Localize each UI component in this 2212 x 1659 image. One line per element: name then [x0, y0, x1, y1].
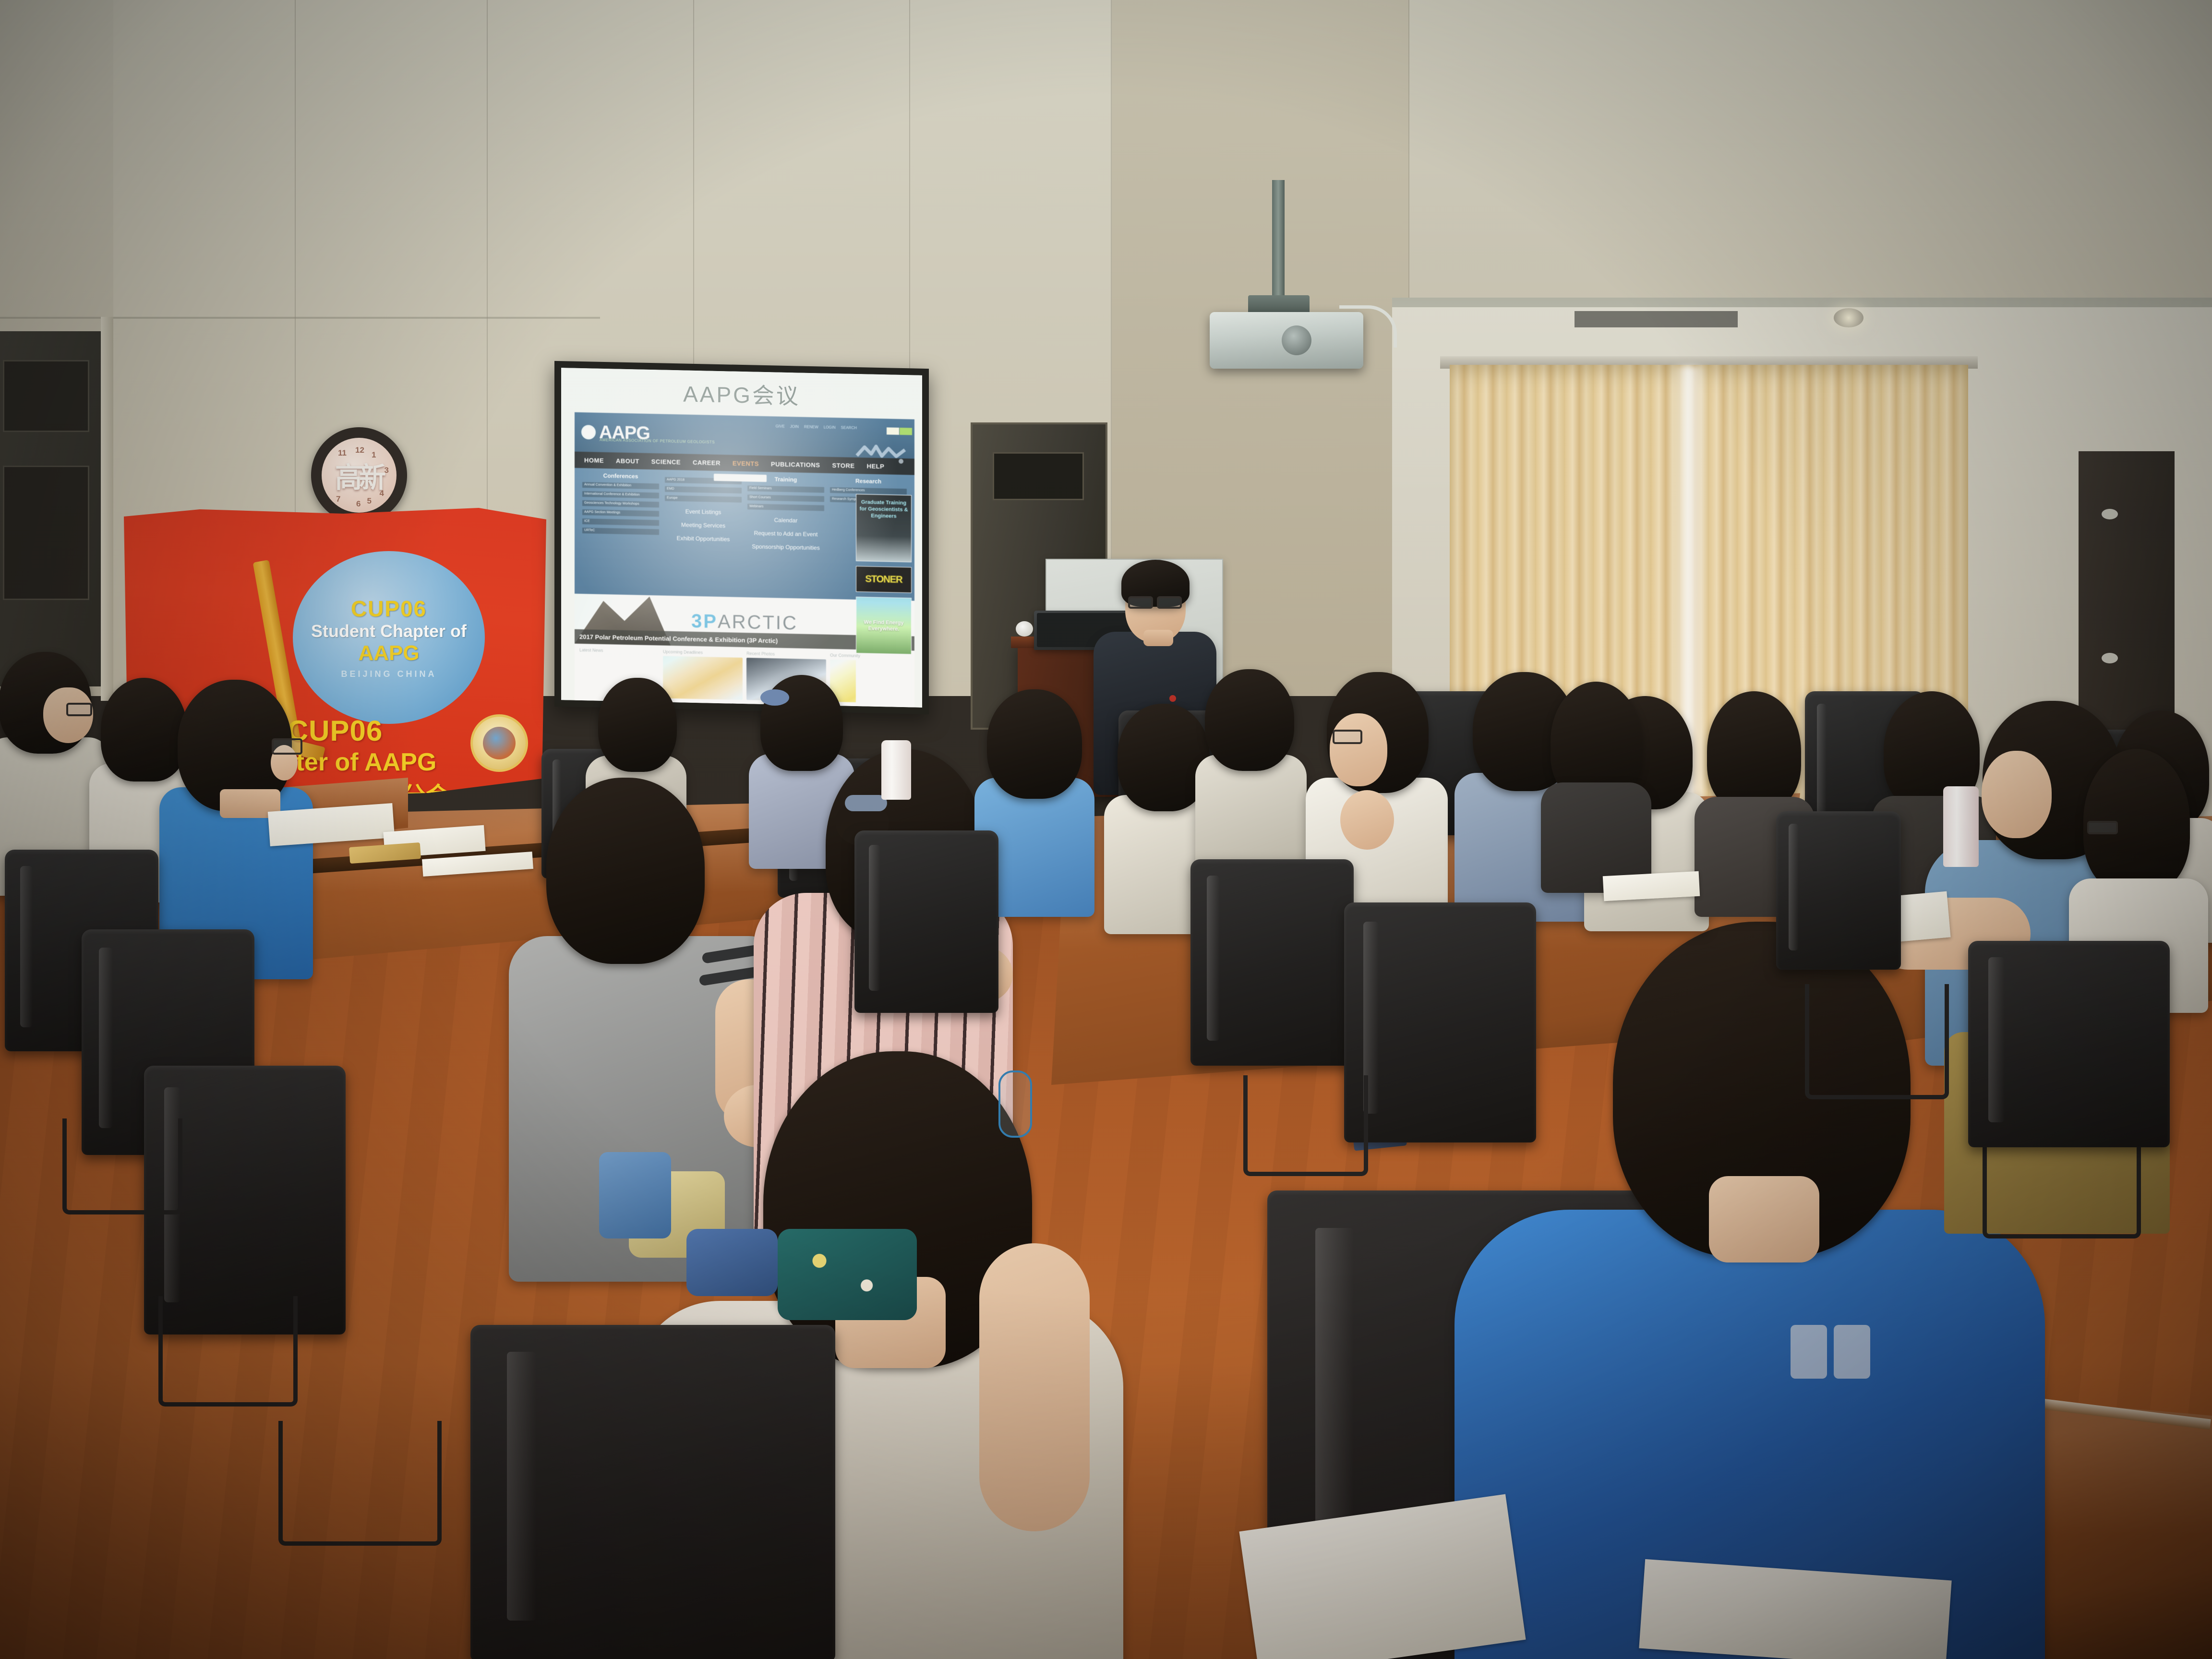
chair-leg [158, 1296, 298, 1407]
nav-events[interactable]: EVENTS [727, 459, 765, 468]
person-glasses [1333, 730, 1362, 744]
right-link-request-add-event[interactable]: Request to Add an Event [747, 529, 824, 538]
water-bottle[interactable] [881, 740, 911, 800]
audience-person [1541, 682, 1656, 874]
site-top-links[interactable]: GIVE JOIN RENEW LOGIN SEARCH [776, 424, 857, 430]
door-glass-pane [993, 452, 1084, 500]
bottom-cell-heading: Upcoming Deadlines [663, 649, 743, 656]
chair[interactable] [1190, 859, 1354, 1066]
person-face [1330, 713, 1387, 786]
chair[interactable] [1968, 941, 2170, 1147]
hero-logo-prefix: 3P [691, 610, 718, 632]
mega-col-regions: AAPG 2018 EMD Europe Event Listings Meet… [662, 474, 745, 594]
person-head [987, 689, 1082, 799]
hero-logo-suffix: ARCTIC [718, 611, 798, 633]
audience-person [1195, 667, 1310, 874]
person-head [1707, 691, 1801, 811]
person-hand [1340, 790, 1394, 850]
person-face [1982, 751, 2052, 838]
presenter-neck [1143, 630, 1173, 646]
clock-face-text: 高新 [335, 455, 383, 495]
site-flag-badge [887, 427, 899, 435]
hair-tie [760, 689, 789, 706]
mega-item[interactable]: URTeC [582, 528, 659, 535]
presenter-glasses [1128, 596, 1153, 609]
shirt-print [1834, 1325, 1870, 1379]
site-ad-rail: Graduate Training for Geoscientists & En… [853, 491, 914, 708]
shirt-print [1791, 1325, 1827, 1379]
slide-title: AAPG会议 [561, 368, 922, 420]
microphone [1016, 621, 1033, 637]
person-glasses [272, 738, 302, 755]
center-link-event-listings[interactable]: Event Listings [665, 508, 742, 516]
top-link[interactable]: JOIN [790, 424, 799, 429]
person-glasses [998, 1070, 1032, 1138]
aapg-website-screenshot: AAPG AMERICAN ASSOCIATION OF PETROLEUM G… [575, 412, 914, 708]
stoner-ad[interactable]: STONER [856, 566, 912, 593]
person-head [546, 778, 705, 964]
thermos-bottle[interactable] [1943, 786, 1979, 867]
top-link[interactable]: GIVE [776, 424, 785, 428]
bottom-cell-heading: Recent Photos [746, 651, 826, 657]
mega-col-training: Training Field Seminars Short Courses We… [745, 475, 827, 595]
site-search-input[interactable] [714, 474, 767, 482]
presenter-glasses [1157, 596, 1182, 609]
mega-item[interactable]: Webinars [747, 504, 824, 511]
site-green-badge [900, 428, 912, 435]
soffit-vent [1575, 311, 1738, 327]
document-on-table[interactable] [1603, 871, 1700, 901]
banner-logo-oval: CUP06 Student Chapter of AAPG BEIJING CH… [293, 551, 485, 724]
chair-leg [1243, 1075, 1368, 1176]
projected-slide: AAPG会议 AAPG AMERICAN ASSOCIATION OF PETR… [561, 368, 922, 708]
hero-logo: 3PARCTIC [691, 610, 798, 634]
person-glasses [66, 703, 92, 716]
site-tagline: AMERICAN ASSOCIATION OF PETROLEUM GEOLOG… [600, 438, 715, 445]
globe-icon [855, 441, 908, 467]
stoner-ad-text: STONER [866, 574, 902, 586]
nav-about[interactable]: ABOUT [610, 457, 645, 465]
center-link-meeting-services[interactable]: Meeting Services [665, 521, 742, 529]
center-link-exhibit-opportunities[interactable]: Exhibit Opportunities [665, 535, 742, 543]
hair-tie [845, 795, 887, 811]
chair-leg [62, 1118, 182, 1214]
energy-everywhere-ad[interactable]: We Find Energy Everywhere. [856, 597, 912, 654]
mega-heading-conferences: Conferences [582, 472, 659, 480]
banner-oval-line4: BEIJING CHINA [341, 669, 436, 679]
aapg-logo-mark [581, 425, 596, 440]
chair-leg [278, 1421, 442, 1546]
wall-clock: 高新 12 1 3 4 5 6 7 11 [311, 427, 407, 523]
chair[interactable] [1344, 902, 1536, 1142]
mega-item[interactable]: AAPG Section Meetings [582, 509, 659, 517]
right-link-calendar[interactable]: Calendar [747, 516, 824, 524]
nav-science[interactable]: SCIENCE [646, 457, 686, 466]
top-link[interactable]: SEARCH [841, 425, 857, 430]
university-seal [470, 714, 528, 772]
chair[interactable] [470, 1325, 835, 1659]
wall-seam [0, 317, 600, 319]
bag-on-floor[interactable] [686, 1229, 778, 1296]
graduate-training-ad[interactable]: Graduate Training for Geoscientists & En… [856, 494, 912, 562]
mega-item[interactable]: Europe [665, 495, 742, 503]
person-head [1205, 669, 1294, 771]
bottom-cell-heading: Latest News [579, 648, 659, 654]
projector-lens [1282, 325, 1311, 355]
mega-item[interactable]: Geosciences Technology Workshops [582, 500, 659, 507]
top-link[interactable]: LOGIN [824, 425, 836, 430]
mega-heading-research: Research [830, 477, 907, 485]
rail-spacer-ad [856, 658, 912, 704]
chair[interactable] [854, 830, 998, 1013]
nav-publications[interactable]: PUBLICATIONS [765, 460, 826, 469]
banner-oval-line2: Student Chapter of [311, 622, 467, 641]
mega-col-conferences: Conferences Annual Convention & Exhibiti… [579, 472, 662, 592]
mega-item[interactable]: ICE [582, 518, 659, 526]
mega-item[interactable]: Field Seminars [747, 485, 824, 493]
projection-screen-frame: AAPG会议 AAPG AMERICAN ASSOCIATION OF PETR… [554, 361, 929, 714]
person-arm [979, 1243, 1090, 1531]
person-glasses [2087, 821, 2118, 834]
top-link[interactable]: RENEW [804, 425, 818, 430]
conference-room-photo: 高新 12 1 3 4 5 6 7 11 CUP06 Student Chapt… [0, 0, 2212, 1659]
projector-mount-pole [1272, 180, 1285, 300]
projection-screen: AAPG会议 AAPG AMERICAN ASSOCIATION OF PETR… [561, 368, 922, 708]
mega-item[interactable]: EMD [665, 486, 742, 493]
person-neck [1709, 1176, 1819, 1262]
site-header: AAPG AMERICAN ASSOCIATION OF PETROLEUM G… [575, 412, 914, 459]
nav-career[interactable]: CAREER [687, 458, 726, 467]
patterned-bag[interactable] [778, 1229, 917, 1320]
banner-oval-line1: CUP06 [351, 596, 427, 622]
chair-leg [1805, 984, 1949, 1099]
clock-face: 高新 12 1 3 4 5 6 7 11 [322, 438, 397, 513]
person-head [598, 678, 677, 772]
soffit-downlight [1834, 308, 1863, 327]
mega-item[interactable]: Short Courses [747, 494, 824, 502]
right-link-sponsorship[interactable]: Sponsorship Opportunities [747, 543, 824, 551]
left-door[interactable] [0, 331, 110, 686]
mega-item[interactable]: International Conference & Exhibition [582, 491, 659, 498]
mega-item[interactable]: Annual Convention & Exhibition [582, 482, 659, 489]
nav-home[interactable]: HOME [578, 456, 610, 464]
bag-on-floor[interactable] [599, 1152, 671, 1238]
chair[interactable] [1776, 811, 1901, 970]
banner-oval-line3: AAPG [358, 641, 419, 665]
